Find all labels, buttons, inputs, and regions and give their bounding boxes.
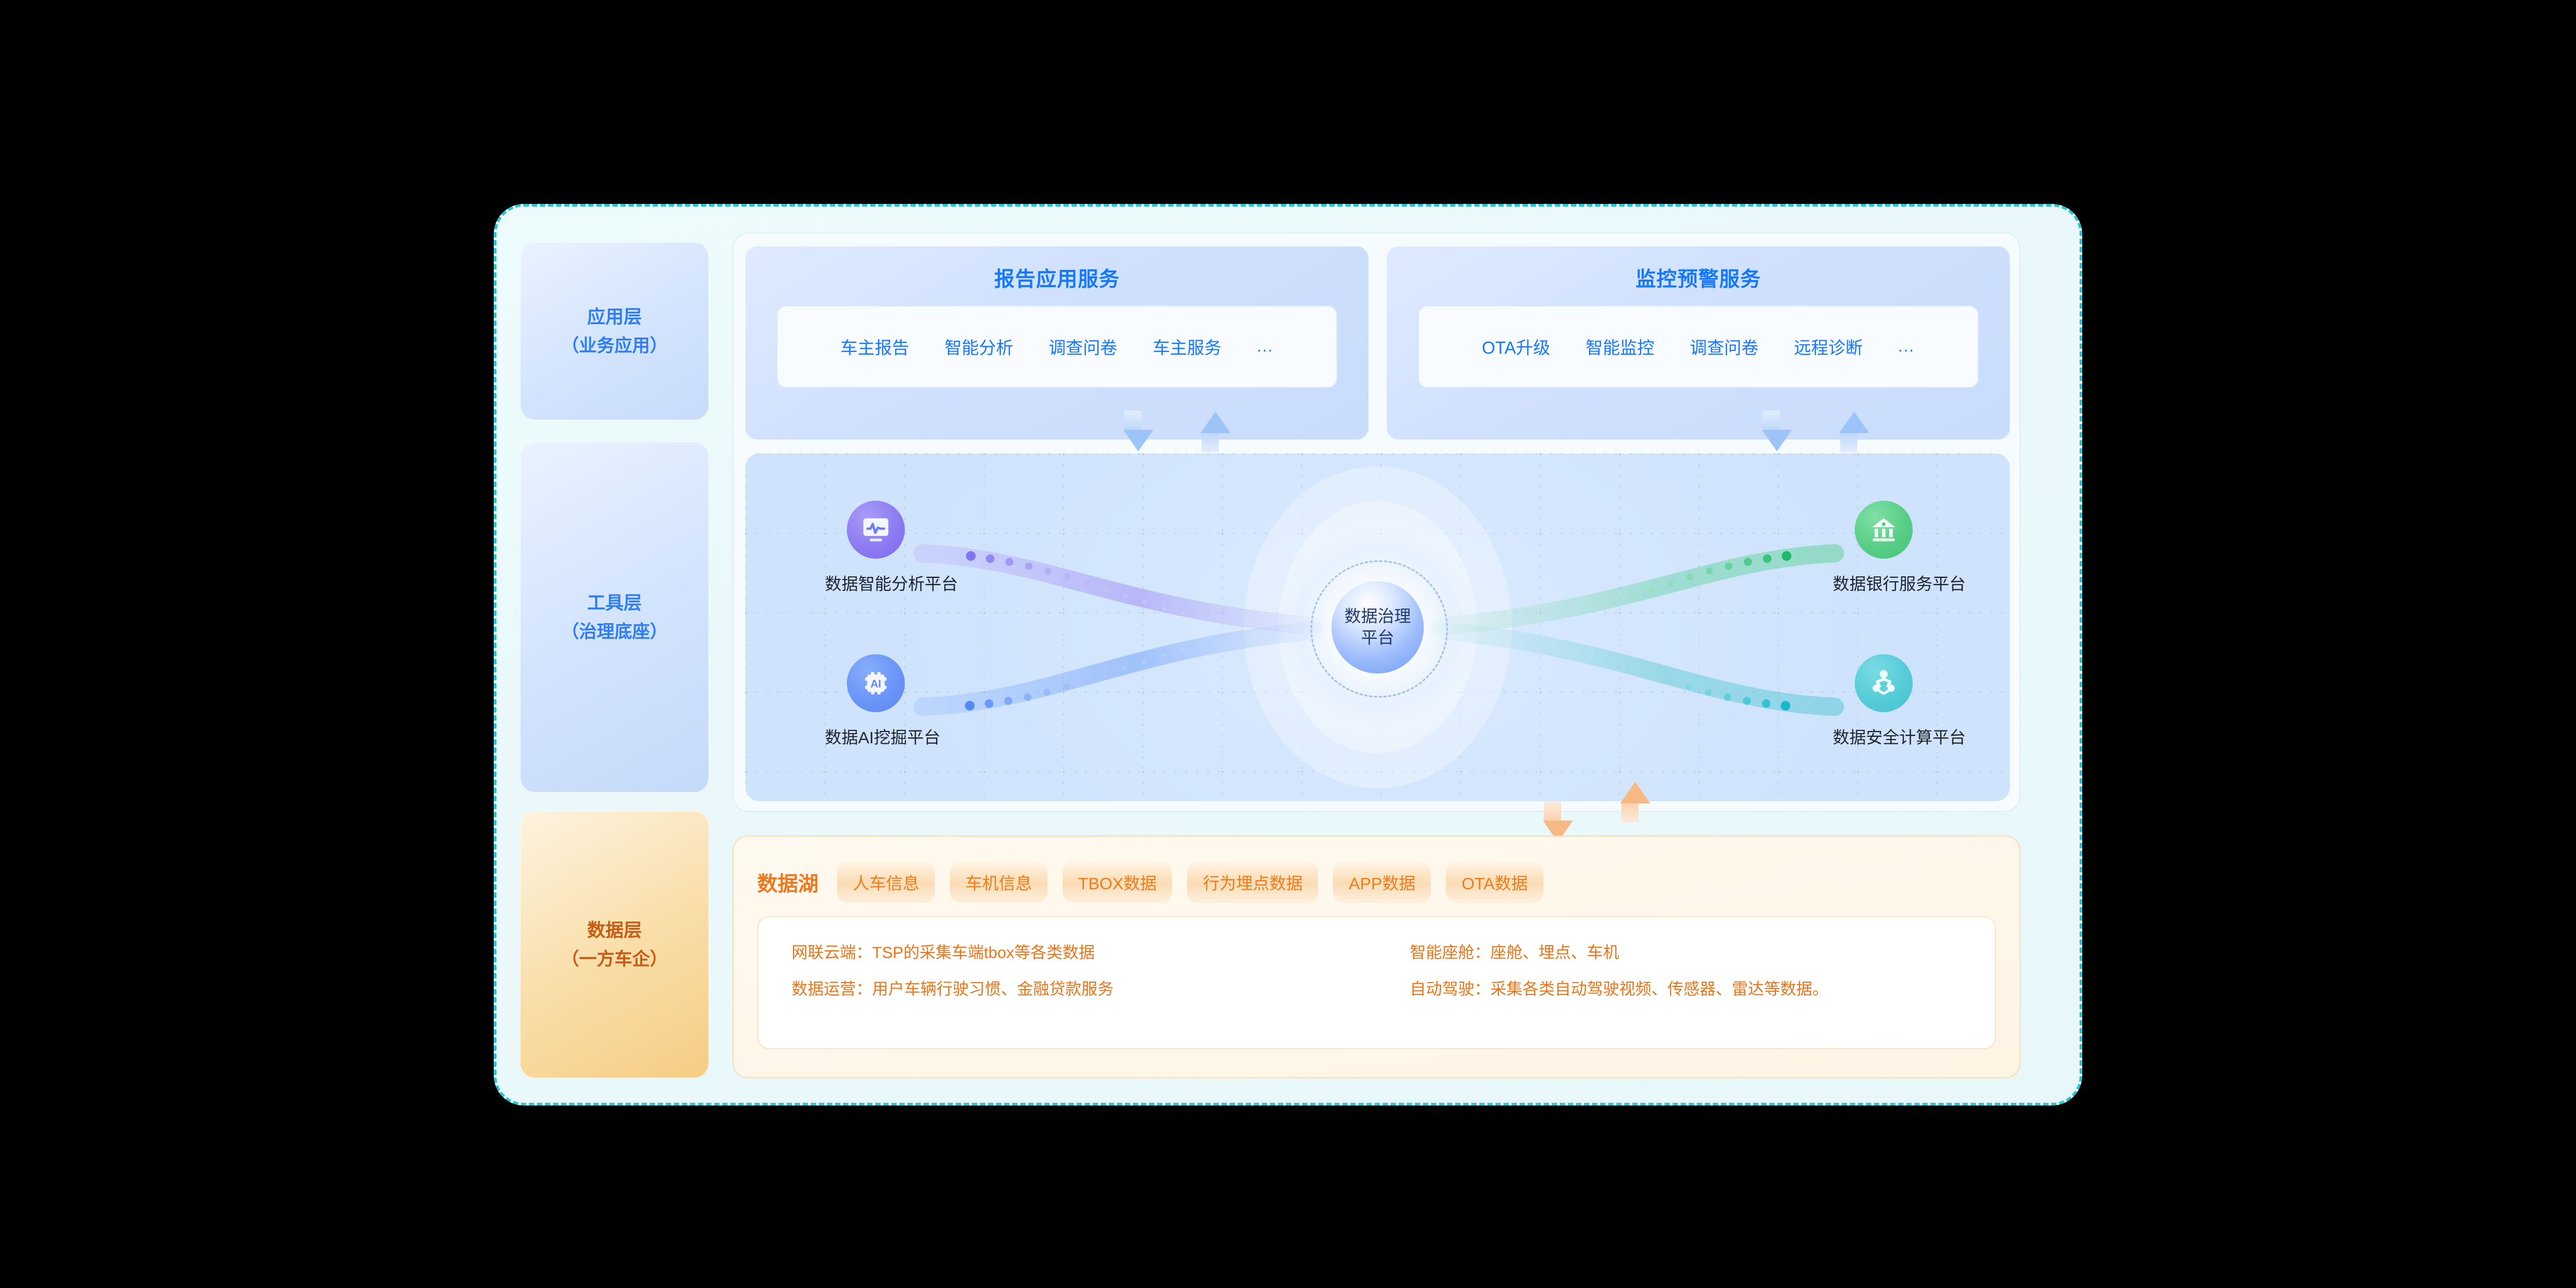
arrow-up-right-icon xyxy=(1839,412,1869,433)
node-label-ai: 数据AI挖掘平台 xyxy=(825,724,927,748)
upper-panel: 报告应用服务 车主报告 智能分析 调查问卷 车主服务 ... 监控预警服务 OT… xyxy=(733,232,2021,812)
data-layer-card: 数据湖 人车信息 车机信息 TBOX数据 行为埋点数据 APP数据 OTA数据 … xyxy=(733,836,2021,1078)
service-item-remote-diagnosis[interactable]: 远程诊断 xyxy=(1794,334,1863,359)
ai-chip-icon: AI xyxy=(847,654,905,712)
data-lake-row: 数据湖 人车信息 车机信息 TBOX数据 行为埋点数据 APP数据 OTA数据 xyxy=(757,856,1996,908)
hub-label-line1: 数据治理 xyxy=(1344,607,1411,626)
application-services-row: 报告应用服务 车主报告 智能分析 调查问卷 车主服务 ... 监控预警服务 OT… xyxy=(745,246,2010,440)
service-item-ota-upgrade[interactable]: OTA升级 xyxy=(1482,334,1550,359)
hub-core: 数据治理 平台 xyxy=(1331,581,1424,674)
data-tag-tbox[interactable]: TBOX数据 xyxy=(1062,860,1173,904)
data-description-left-column: 网联云端：TSP的采集车端tbox等各类数据 数据运营：用户车辆行驶习惯、金融贷… xyxy=(758,917,1377,1048)
data-description-right-column: 智能座舱：座舱、埋点、车机 自动驾驶：采集各类自动驾驶视频、传感器、雷达等数据。 xyxy=(1377,917,1995,1048)
layer-application-title: 应用层 xyxy=(587,303,642,332)
layer-chip-data[interactable]: 数据层 （一方车企） xyxy=(520,811,709,1078)
data-tag-person-vehicle[interactable]: 人车信息 xyxy=(837,860,935,904)
layer-chip-tool[interactable]: 工具层 （治理底座） xyxy=(520,442,709,793)
arrow-stem-down-right xyxy=(1763,411,1780,430)
arrow-down-right-icon xyxy=(1762,430,1792,451)
arrow-stem-up-right xyxy=(1840,433,1857,452)
data-lake-title: 数据湖 xyxy=(757,867,818,897)
node-label-analysis: 数据智能分析平台 xyxy=(825,570,927,595)
desc-line-autonomous: 自动驾驶：采集各类自动驾驶视频、传感器、雷达等数据。 xyxy=(1410,982,1995,998)
service-item-more-2[interactable]: ... xyxy=(1898,338,1915,356)
arrow-up-data-icon xyxy=(1620,782,1650,803)
service-item-owner-service[interactable]: 车主服务 xyxy=(1153,334,1221,359)
service-monitoring-title: 监控预警服务 xyxy=(1387,262,2010,292)
service-card-report[interactable]: 报告应用服务 车主报告 智能分析 调查问卷 车主服务 ... xyxy=(745,246,1368,440)
arrow-up-left-icon xyxy=(1201,412,1231,433)
hub-label-line2: 平台 xyxy=(1361,628,1394,647)
node-label-bank: 数据银行服务平台 xyxy=(1833,570,1935,595)
service-item-more[interactable]: ... xyxy=(1257,338,1274,356)
layer-tool-subtitle: （治理底座） xyxy=(561,618,668,645)
shield-network-glyph xyxy=(1868,667,1900,699)
service-item-survey[interactable]: 调查问卷 xyxy=(1049,334,1117,359)
central-hub[interactable]: 数据治理 平台 xyxy=(1281,531,1474,724)
node-data-security-platform[interactable]: 数据安全计算平台 xyxy=(1833,654,1935,748)
data-description-box: 网联云端：TSP的采集车端tbox等各类数据 数据运营：用户车辆行驶习惯、金融贷… xyxy=(757,916,1996,1049)
arrow-stem-up-data xyxy=(1621,803,1638,823)
monitor-pulse-glyph xyxy=(859,513,892,546)
service-report-title: 报告应用服务 xyxy=(745,262,1368,292)
service-item-survey-2[interactable]: 调查问卷 xyxy=(1690,334,1759,359)
service-card-monitoring[interactable]: 监控预警服务 OTA升级 智能监控 调查问卷 远程诊断 ... xyxy=(1387,246,2010,440)
data-tag-behavior-tracking[interactable]: 行为埋点数据 xyxy=(1187,860,1319,904)
layer-chip-application[interactable]: 应用层 （业务应用） xyxy=(520,242,709,420)
service-monitoring-items: OTA升级 智能监控 调查问卷 远程诊断 ... xyxy=(1418,305,1979,388)
diagram-canvas: 应用层 （业务应用） 工具层 （治理底座） 数据层 （一方车企） 报告应用服务 xyxy=(0,0,2576,1288)
bank-glyph xyxy=(1868,514,1900,546)
data-tag-ota[interactable]: OTA数据 xyxy=(1445,860,1543,904)
layer-tool-title: 工具层 xyxy=(587,589,642,618)
architecture-frame: 应用层 （业务应用） 工具层 （治理底座） 数据层 （一方车企） 报告应用服务 xyxy=(494,204,2082,1106)
bank-icon xyxy=(1855,501,1913,559)
node-label-security: 数据安全计算平台 xyxy=(1833,724,1935,748)
data-tag-vehicle-machine[interactable]: 车机信息 xyxy=(949,860,1048,904)
service-report-items: 车主报告 智能分析 调查问卷 车主服务 ... xyxy=(777,305,1337,388)
monitor-pulse-icon xyxy=(847,501,905,559)
desc-line-cockpit: 智能座舱：座舱、埋点、车机 xyxy=(1410,945,1995,961)
shield-network-icon xyxy=(1855,654,1913,712)
arrow-stem-up-left xyxy=(1202,433,1219,452)
ai-chip-glyph: AI xyxy=(860,668,891,699)
node-data-analysis-platform[interactable]: 数据智能分析平台 xyxy=(825,501,927,595)
node-data-bank-platform[interactable]: 数据银行服务平台 xyxy=(1833,501,1935,595)
arrow-stem-down-data xyxy=(1544,801,1561,821)
service-item-owner-report[interactable]: 车主报告 xyxy=(840,334,909,359)
main-column: 报告应用服务 车主报告 智能分析 调查问卷 车主服务 ... 监控预警服务 OT… xyxy=(733,207,2063,1108)
data-tag-app[interactable]: APP数据 xyxy=(1333,860,1431,904)
service-item-smart-analysis[interactable]: 智能分析 xyxy=(945,334,1013,359)
arrow-down-left-icon xyxy=(1123,430,1153,451)
arrow-stem-down-left xyxy=(1124,411,1141,430)
tool-layer-panel: 数据治理 平台 xyxy=(745,453,2010,801)
layer-data-title: 数据层 xyxy=(587,917,642,945)
svg-text:AI: AI xyxy=(870,678,881,690)
desc-line-cloud: 网联云端：TSP的采集车端tbox等各类数据 xyxy=(792,945,1377,961)
service-item-smart-monitoring[interactable]: 智能监控 xyxy=(1586,334,1655,359)
layer-data-subtitle: （一方车企） xyxy=(561,945,668,972)
desc-line-operations: 数据运营：用户车辆行驶习惯、金融贷款服务 xyxy=(792,982,1377,998)
layer-application-subtitle: （业务应用） xyxy=(561,332,668,359)
node-data-ai-platform[interactable]: AI 数据AI挖掘平台 xyxy=(825,654,927,748)
